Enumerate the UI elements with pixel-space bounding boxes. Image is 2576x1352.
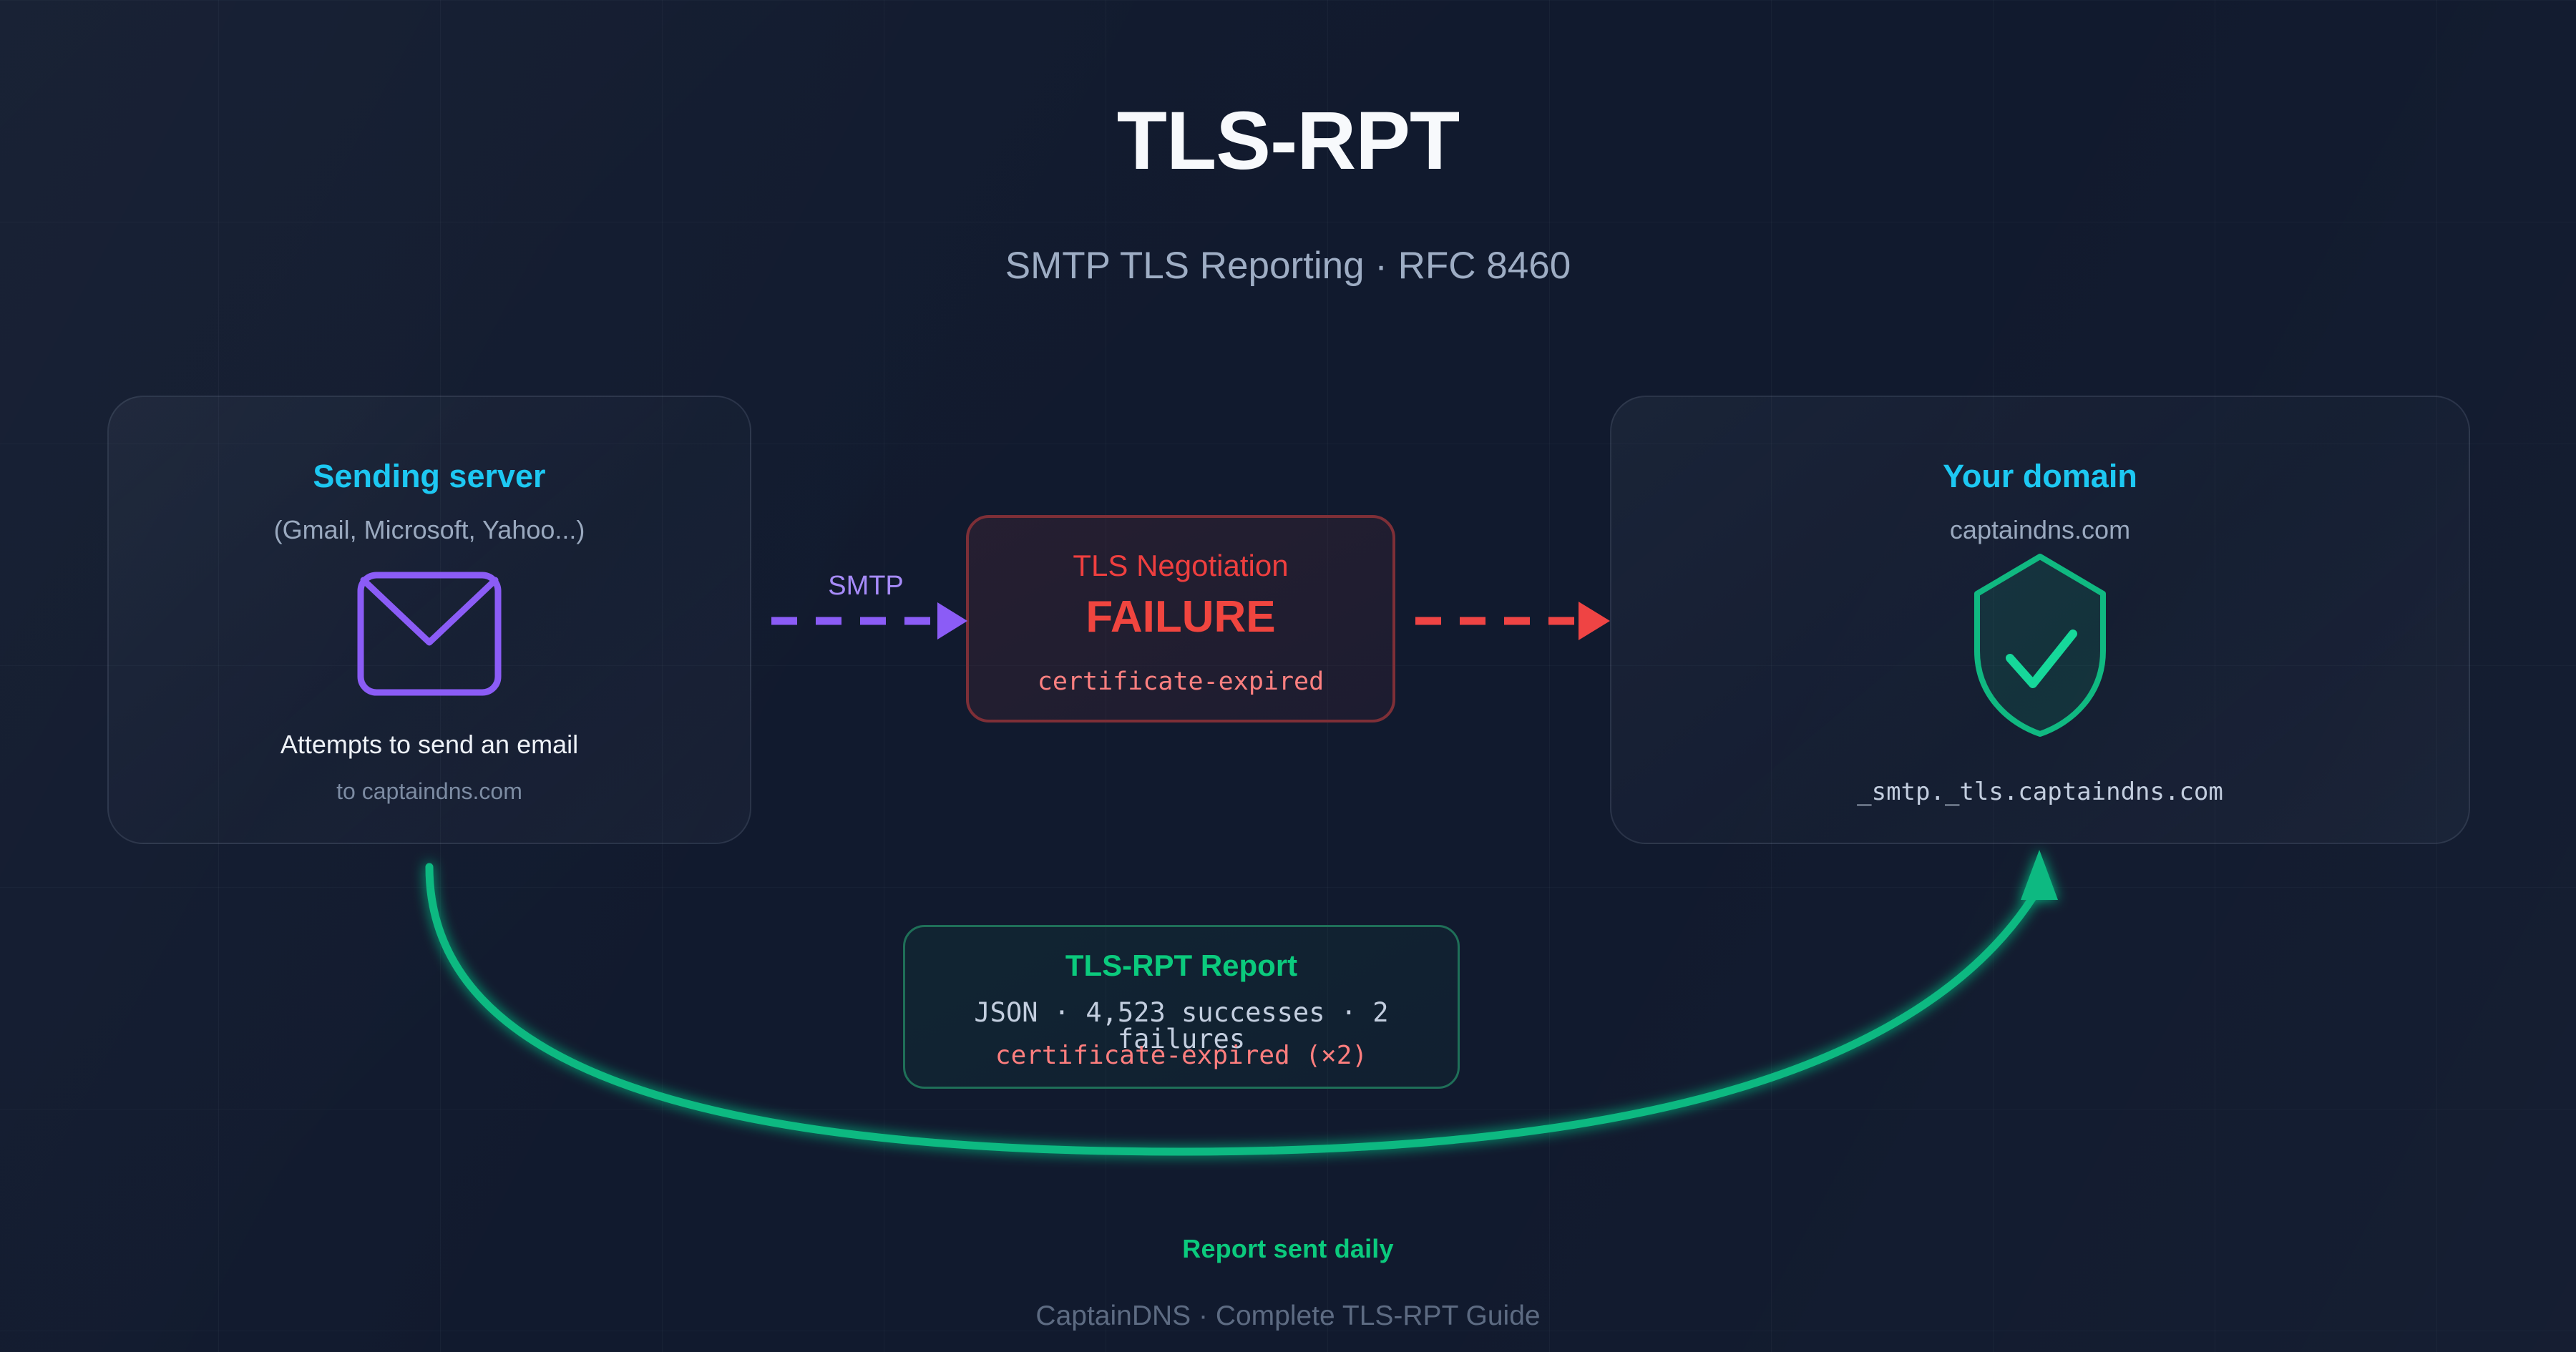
sending-server-panel: Sending server (Gmail, Microsoft, Yahoo.…	[107, 396, 751, 844]
failure-status: FAILURE	[969, 595, 1392, 640]
your-domain-panel: Your domain captaindns.com _smtp._tls.ca…	[1610, 396, 2470, 844]
sending-server-target: to captaindns.com	[109, 780, 750, 803]
failure-dashed-arrow	[1415, 602, 1610, 640]
report-error: certificate-expired (×2)	[905, 1043, 1458, 1069]
your-domain-title: Your domain	[1611, 460, 2469, 492]
smtp-arrow-label: SMTP	[773, 572, 959, 599]
sending-server-title: Sending server	[109, 460, 750, 492]
sending-server-providers: (Gmail, Microsoft, Yahoo...)	[109, 517, 750, 543]
diagram-canvas: TLS-RPT SMTP TLS Reporting · RFC 8460 Se…	[0, 0, 2576, 1352]
failure-reason: certificate-expired	[969, 670, 1392, 695]
sending-server-caption: Attempts to send an email	[109, 732, 750, 758]
report-title: TLS-RPT Report	[905, 951, 1458, 981]
tlsrpt-dns-record: _smtp._tls.captaindns.com	[1611, 780, 2469, 804]
report-cadence-label: Report sent daily	[0, 1236, 2576, 1262]
page-title: TLS-RPT	[0, 100, 2576, 182]
failure-title: TLS Negotiation	[969, 551, 1392, 581]
page-subtitle: SMTP TLS Reporting · RFC 8460	[0, 247, 2576, 285]
shield-check-icon	[1968, 551, 2112, 743]
tlsrpt-report-box: TLS-RPT Report JSON · 4,523 successes · …	[903, 925, 1460, 1089]
your-domain-name: captaindns.com	[1611, 517, 2469, 543]
envelope-icon	[354, 569, 504, 702]
footer-brand: CaptainDNS · Complete TLS-RPT Guide	[0, 1302, 2576, 1330]
tls-failure-box: TLS Negotiation FAILURE certificate-expi…	[966, 515, 1395, 722]
smtp-dashed-arrow	[771, 602, 967, 640]
